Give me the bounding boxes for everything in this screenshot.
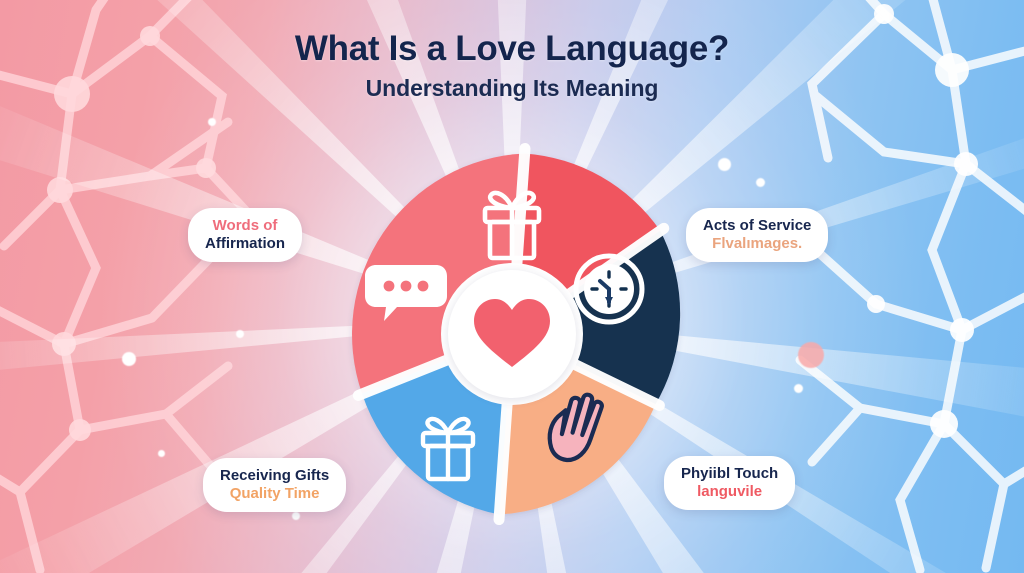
decorative-dot (794, 384, 803, 393)
label-line-1: Receiving Gifts (220, 467, 329, 485)
wheel-center-hub (448, 270, 576, 398)
heading-block: What Is a Love Language? Understanding I… (0, 29, 1024, 102)
label-line-2: languvile (681, 483, 778, 501)
label-line-1: Words of (205, 217, 285, 235)
page-title: What Is a Love Language? (0, 29, 1024, 68)
label-receiving-gifts[interactable]: Receiving Gifts Quality Time (203, 458, 346, 512)
decorative-dot (158, 450, 165, 457)
decorative-dot (756, 178, 765, 187)
decorative-dot (122, 352, 136, 366)
label-line-2: Flvalımages. (703, 235, 811, 253)
label-line-1: Phyiibl Touch (681, 465, 778, 483)
label-acts-of-service[interactable]: Acts of Service Flvalımages. (686, 208, 828, 262)
label-line-2: Quality Time (220, 485, 329, 503)
infographic-canvas: What Is a Love Language? Understanding I… (0, 0, 1024, 573)
clock-icon (576, 256, 642, 322)
decorative-dot (292, 512, 300, 520)
label-line-1: Acts of Service (703, 217, 811, 235)
decorative-dot (718, 158, 731, 171)
decorative-dot-pink (798, 342, 824, 368)
page-subtitle: Understanding Its Meaning (0, 75, 1024, 102)
decorative-dot (236, 330, 244, 338)
label-words-of-affirmation[interactable]: Words of Affirmation (188, 208, 302, 262)
heart-icon (470, 295, 554, 373)
decorative-dot (208, 118, 216, 126)
label-line-2: Affirmation (205, 235, 285, 253)
label-physical-touch[interactable]: Phyiibl Touch languvile (664, 456, 795, 510)
